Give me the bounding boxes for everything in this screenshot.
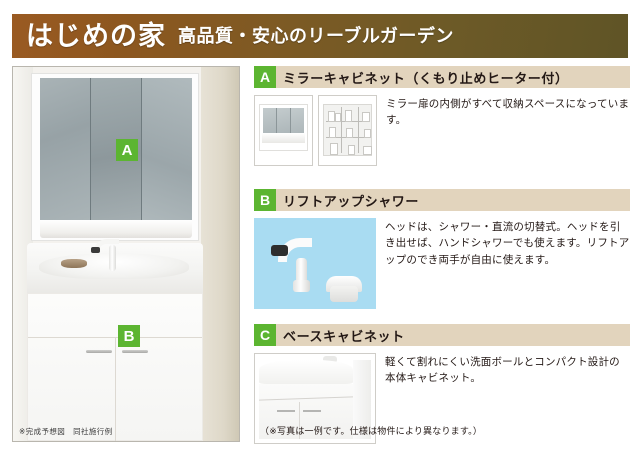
section-c-title: ベースキャビネット [283,326,405,345]
page-subtitle: 高品質・安心のリーブルガーデン [178,27,454,45]
section-b-letter-badge: B [254,189,276,211]
section-b-title: リフトアップシャワー [283,191,419,210]
page-root: はじめの家 高品質・安心のリーブルガーデン A B C ※ [0,0,640,453]
thumb-a1-frame [259,104,308,151]
thumb-a2-interior [323,104,372,156]
thumb-c-basin [259,360,353,384]
thumb-b-faucet-base [293,280,310,292]
hero-base-cabinet [27,293,203,441]
thumb-mirror-cabinet-closed [254,95,313,166]
section-a-body: ミラー扉の内側がすべて収納スペースになっています。 [254,95,630,166]
thumb-a2-bottle [330,143,338,155]
section-c-header: C ベースキャビネット [254,324,630,346]
hero-faucet-neck [109,245,116,271]
section-b-header: B リフトアップシャワー [254,189,630,211]
hero-badge-a: A [116,139,138,161]
thumb-mirror-cabinet-open [318,95,377,166]
thumb-a2-bottle [348,145,355,155]
thumb-a2-bottle [363,146,372,155]
thumb-c-handle-right [303,410,321,412]
thumb-a2-bottle [335,113,341,122]
section-a-text: ミラー扉の内側がすべて収納スペースになっています。 [386,95,630,166]
hero-soap-dish [61,259,87,268]
hero-caption: ※完成予想図 同社施行例 [19,426,113,437]
section-a-figures [254,95,377,166]
section-a-letter-badge: A [254,66,276,88]
section-b-figures [254,218,376,309]
thumb-c-handle-left [277,410,295,412]
section-b-text: ヘッドは、シャワー・直流の切替式。ヘッドを引き出せば、ハンドシャワーでも使えます… [385,218,630,309]
section-a-header: A ミラーキャビネット（くもり止めヒーター付） [254,66,630,88]
section-a-title: ミラーキャビネット（くもり止めヒーター付） [283,68,569,87]
thumb-b-mixer-base [330,286,358,302]
thumb-a2-divider-2 [358,107,359,153]
thumb-a2-bottle [362,112,370,122]
hero-photo-vanity: A B C ※完成予想図 同社施行例 [12,66,240,442]
thumb-a2-bottle [328,111,335,122]
thumb-a2-bottle [346,128,353,138]
section-b-body: ヘッドは、シャワー・直流の切替式。ヘッドを引き出せば、ハンドシャワーでも使えます… [254,218,630,309]
page-title: はじめの家 [26,23,166,50]
thumb-a2-bottle [364,129,371,138]
thumb-b-faucet-head [271,245,288,256]
hero-door-split [115,337,116,442]
hero-faucet-tip [91,247,100,253]
footnote-disclaimer: （※写真は一例です。仕様は物件により異なります。） [260,424,482,437]
hero-badge-b: B [118,325,140,347]
section-mirror-cabinet: A ミラーキャビネット（くもり止めヒーター付） [254,66,630,166]
thumb-shower-faucet [254,218,376,309]
mirror-pane-right [142,78,192,220]
hero-door-handle-left [86,350,112,353]
hero-mirror-shelf [40,220,192,238]
thumb-a2-bottle [345,110,352,122]
header-banner: はじめの家 高品質・安心のリーブルガーデン [12,14,628,58]
hero-door-handle-right [122,350,148,353]
section-c-letter-badge: C [254,324,276,346]
section-lift-up-shower: B リフトアップシャワー ヘッドは、シャワー・直流の切替式。ヘッドを引き出せば、… [254,189,630,309]
hero-mirror-cabinet [31,73,199,241]
thumb-a2-bottle [329,127,336,138]
thumb-a2-divider-1 [341,107,342,153]
thumb-a1-counter [262,133,305,143]
mirror-pane-left [40,78,91,220]
hero-wall-right [201,67,239,441]
